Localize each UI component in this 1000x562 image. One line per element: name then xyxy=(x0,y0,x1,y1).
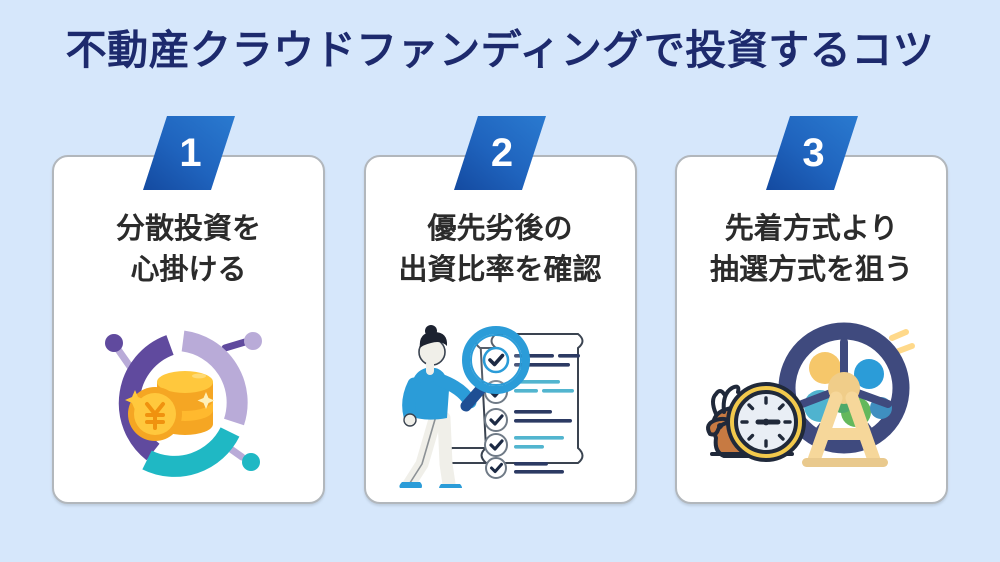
step-number-text-2: 2 xyxy=(454,116,546,190)
tip-card-1-heading-line1: 分散投資を xyxy=(54,209,323,250)
step-number-badge-1: 1 xyxy=(143,116,235,190)
step-number-text-3: 3 xyxy=(766,116,858,190)
snail-clock-lottery-wheel-icon xyxy=(696,312,928,488)
step-number-badge-3: 3 xyxy=(766,116,858,190)
tip-card-3-heading: 先着方式より 抽選方式を狙う xyxy=(677,209,946,291)
tips-card-row: 1 分散投資を 心掛ける xyxy=(52,155,948,504)
tip-card-2[interactable]: 2 優先劣後の 出資比率を確認 xyxy=(364,155,637,504)
tip-card-1-heading: 分散投資を 心掛ける xyxy=(54,209,323,291)
tip-card-2-heading-line2: 出資比率を確認 xyxy=(366,250,635,291)
tip-card-2-heading: 優先劣後の 出資比率を確認 xyxy=(366,209,635,291)
donut-chart-yen-coins-icon xyxy=(73,312,305,488)
tip-card-3-heading-line1: 先着方式より xyxy=(677,209,946,250)
page-title: 不動産クラウドファンディングで投資するコツ xyxy=(0,21,1000,79)
tip-card-1[interactable]: 1 分散投資を 心掛ける xyxy=(52,155,325,504)
tip-card-3-heading-line2: 抽選方式を狙う xyxy=(677,250,946,291)
tip-card-1-heading-line2: 心掛ける xyxy=(54,250,323,291)
tip-card-2-heading-line1: 優先劣後の xyxy=(366,209,635,250)
infographic-canvas: 不動産クラウドファンディングで投資するコツ 1 分 xyxy=(0,0,1000,562)
step-number-badge-2: 2 xyxy=(454,116,546,190)
tip-card-3[interactable]: 3 先着方式より 抽選方式を狙う xyxy=(675,155,948,504)
person-magnifier-checklist-icon xyxy=(384,312,616,488)
step-number-text-1: 1 xyxy=(143,116,235,190)
